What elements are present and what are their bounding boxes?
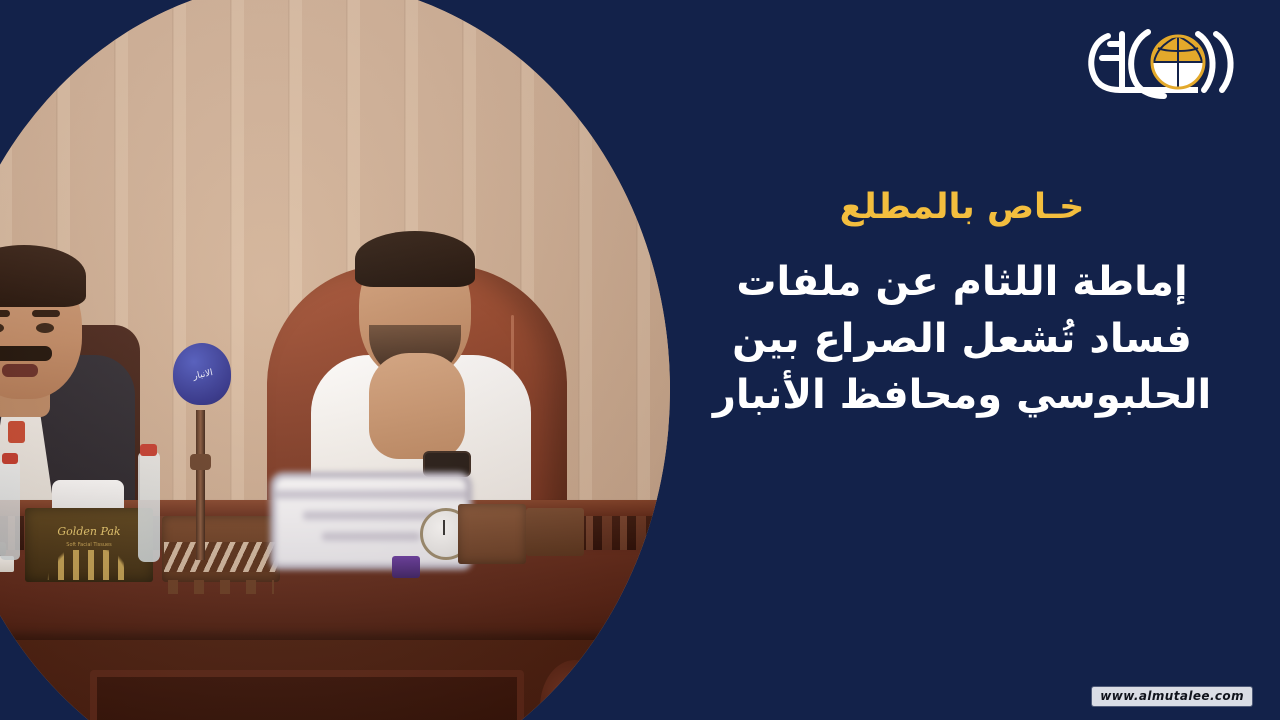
kicker-label: خـاص بالمطلع <box>672 186 1252 230</box>
microphone-joint <box>190 454 211 470</box>
brow-left-b <box>32 310 60 317</box>
eye-left-b <box>36 323 54 333</box>
brow-left-a <box>0 310 10 317</box>
almutalee-logo[interactable] <box>1078 18 1246 102</box>
hair-center <box>355 231 475 287</box>
headline-line-3: الحلبوسي ومحافظ الأنبار <box>672 367 1252 424</box>
desk-box-b <box>526 508 584 556</box>
meeting-photo: Golden Pak Soft Facial Tissues الانبار <box>0 0 670 720</box>
headline-block: خـاص بالمطلع إماطة اللثام عن ملفات فساد … <box>672 186 1252 424</box>
headline-line-1: إماطة اللثام عن ملفات <box>672 254 1252 311</box>
moustache-left <box>0 346 52 361</box>
desk-box-a <box>458 504 526 564</box>
tie-left <box>8 421 25 443</box>
bottle-cap-left <box>2 453 18 464</box>
bottle-cap <box>140 444 157 456</box>
desk-rosette <box>540 660 610 720</box>
water-bottle-left <box>0 460 20 560</box>
tissue-sub-label: Soft Facial Tissues <box>25 542 153 548</box>
microphone-stand <box>196 410 205 560</box>
hair-left <box>0 245 86 307</box>
stand-legs <box>168 580 274 594</box>
news-card: Golden Pak Soft Facial Tissues الانبار <box>0 0 1280 720</box>
photo-ellipse-frame: Golden Pak Soft Facial Tissues الانبار <box>0 0 670 720</box>
headline-line-2: فساد تُشعل الصراع بين <box>672 311 1252 368</box>
site-watermark[interactable]: www.almutalee.com <box>1092 687 1252 706</box>
tissue-ornament <box>28 550 150 580</box>
tissue-brand-label: Golden Pak <box>25 525 153 538</box>
clasped-hands <box>369 353 465 459</box>
water-bottle <box>138 452 160 562</box>
inkwell <box>392 556 420 578</box>
mouth-left <box>2 364 38 377</box>
desk-panel <box>90 670 524 720</box>
stand-weave-band <box>164 542 278 572</box>
